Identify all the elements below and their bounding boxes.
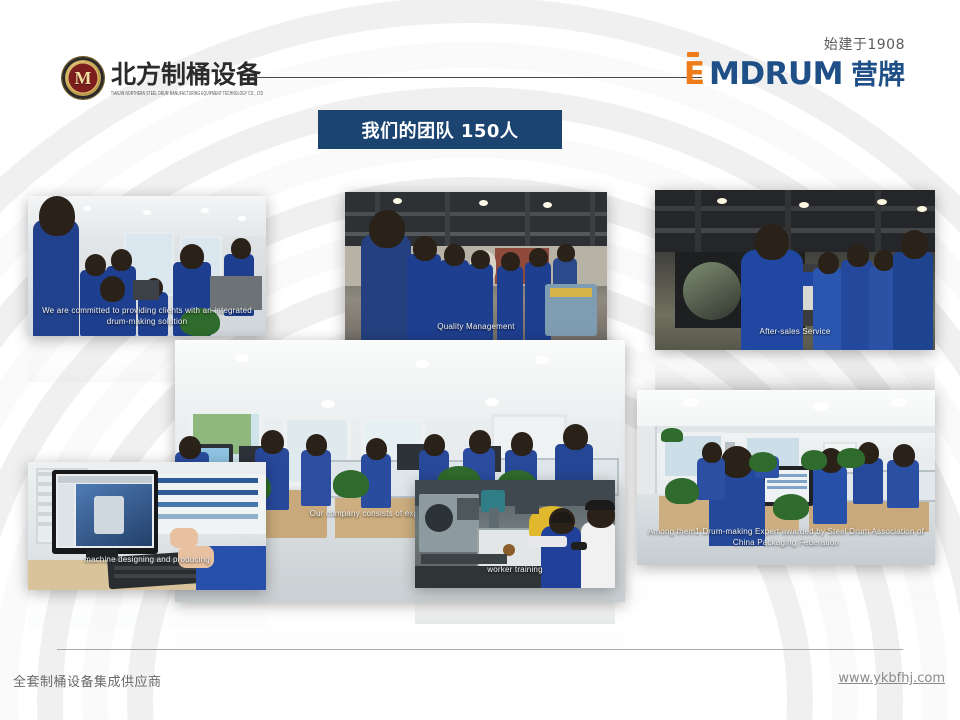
brand-name-cn: 北方制桶设备 — [111, 62, 263, 87]
photo-after-sales-service[interactable]: After-sales Service — [655, 190, 935, 350]
emdrum-rest-letters: MDRUM — [709, 59, 843, 90]
slide-title-text: 我们的团队 150人 — [362, 117, 519, 143]
brand-name-en: TIANJIN NORTHERN STEEL DRUM MANUFACTURIN… — [111, 90, 263, 96]
photo-caption: After-sales Service — [655, 327, 935, 338]
seal-letter: M — [62, 57, 104, 99]
photo-worker-training[interactable]: worker training — [415, 480, 615, 588]
photo-machine-designing[interactable]: machine designing and producing — [28, 462, 266, 590]
company-seal-icon: M — [62, 57, 104, 99]
emdrum-brand-cn: 营牌 — [851, 62, 905, 89]
photo-caption: worker training — [415, 565, 615, 576]
slide-title-banner: 我们的团队 150人 — [318, 110, 562, 149]
footer-divider — [57, 649, 903, 650]
photo-quality-management[interactable]: Quality Management — [345, 192, 607, 347]
footer-tagline: 全套制桶设备集成供应商 — [13, 671, 162, 690]
photo-caption: We are committed to providing clients wi… — [28, 306, 266, 328]
emdrum-wordmark: EMDRUM 营牌 — [684, 59, 905, 90]
header: M 北方制桶设备 TIANJIN NORTHERN STEEL DRUM MAN… — [0, 0, 960, 110]
company-logo-left[interactable]: M 北方制桶设备 TIANJIN NORTHERN STEEL DRUM MAN… — [62, 57, 263, 99]
company-logo-right[interactable]: 始建于1908 EMDRUM 营牌 — [684, 38, 905, 90]
photo-drum-making-expert-office[interactable]: Among them1 Drum-making Expert awarded b… — [637, 390, 935, 565]
photo-caption: Among them1 Drum-making Expert awarded b… — [637, 527, 935, 549]
footer-website-link[interactable]: www.ykbfhj.com — [838, 671, 945, 686]
slide: M 北方制桶设备 TIANJIN NORTHERN STEEL DRUM MAN… — [0, 0, 960, 720]
photo-collage: We are committed to providing clients wi… — [0, 160, 960, 630]
photo-caption: machine designing and producing — [28, 555, 266, 566]
photo-caption: Quality Management — [345, 322, 607, 333]
founded-year-label: 始建于1908 — [684, 38, 905, 52]
photo-meeting-room[interactable]: We are committed to providing clients wi… — [28, 196, 266, 336]
header-divider — [249, 77, 702, 78]
emdrum-e-letter: E — [684, 59, 705, 90]
